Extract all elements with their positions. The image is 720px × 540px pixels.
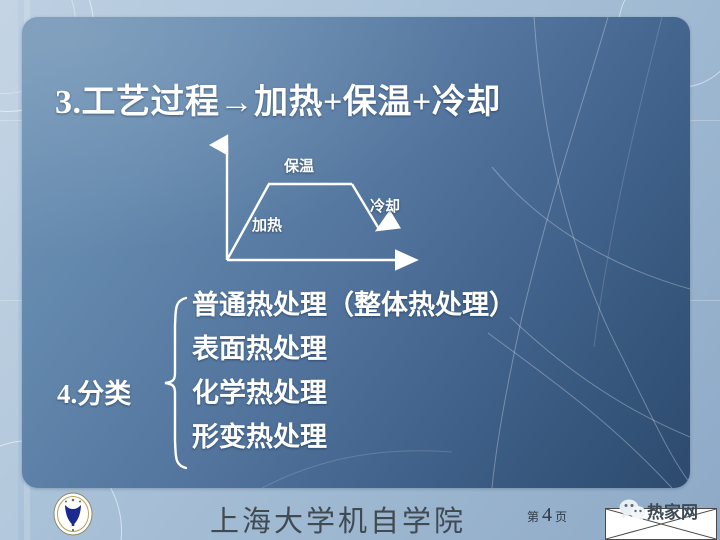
heating-and-holding-segment xyxy=(227,184,352,260)
curly-brace xyxy=(162,295,188,470)
page-title: 3.工艺过程→加热+保温+冷却 xyxy=(55,74,501,123)
holding-label: 保温 xyxy=(284,155,314,176)
page-suffix: 页 xyxy=(555,510,567,524)
list-item: 表面热处理 xyxy=(192,336,516,363)
heating-label: 加热 xyxy=(252,214,282,235)
content-panel: 3.工艺过程→加热+保温+冷却 xyxy=(22,17,690,488)
shanghai-university-logo xyxy=(52,492,94,536)
page-number: 第4页 xyxy=(527,504,567,527)
wechat-icon xyxy=(618,498,646,520)
process-diagram: 保温 加热 冷却 xyxy=(202,127,442,277)
watermark: 热家网 xyxy=(605,498,717,538)
footer-organization: 上海大学机自学院 xyxy=(210,498,466,540)
process-curve-svg xyxy=(202,127,442,277)
list-item: 形变热处理 xyxy=(192,424,516,451)
slide-canvas: 3.工艺过程→加热+保温+冷却 xyxy=(0,0,720,540)
classification-label: 4.分类 xyxy=(57,372,131,411)
watermark-text: 热家网 xyxy=(647,498,698,523)
page-number-value: 4 xyxy=(539,504,555,526)
classification-list: 普通热处理（整体热处理） 表面热处理 化学热处理 形变热处理 xyxy=(192,292,516,468)
cooling-label: 冷却 xyxy=(370,195,400,216)
list-item: 普通热处理（整体热处理） xyxy=(192,292,516,319)
background-band-left xyxy=(0,0,18,540)
list-item: 化学热处理 xyxy=(192,380,516,407)
page-prefix: 第 xyxy=(527,510,539,524)
